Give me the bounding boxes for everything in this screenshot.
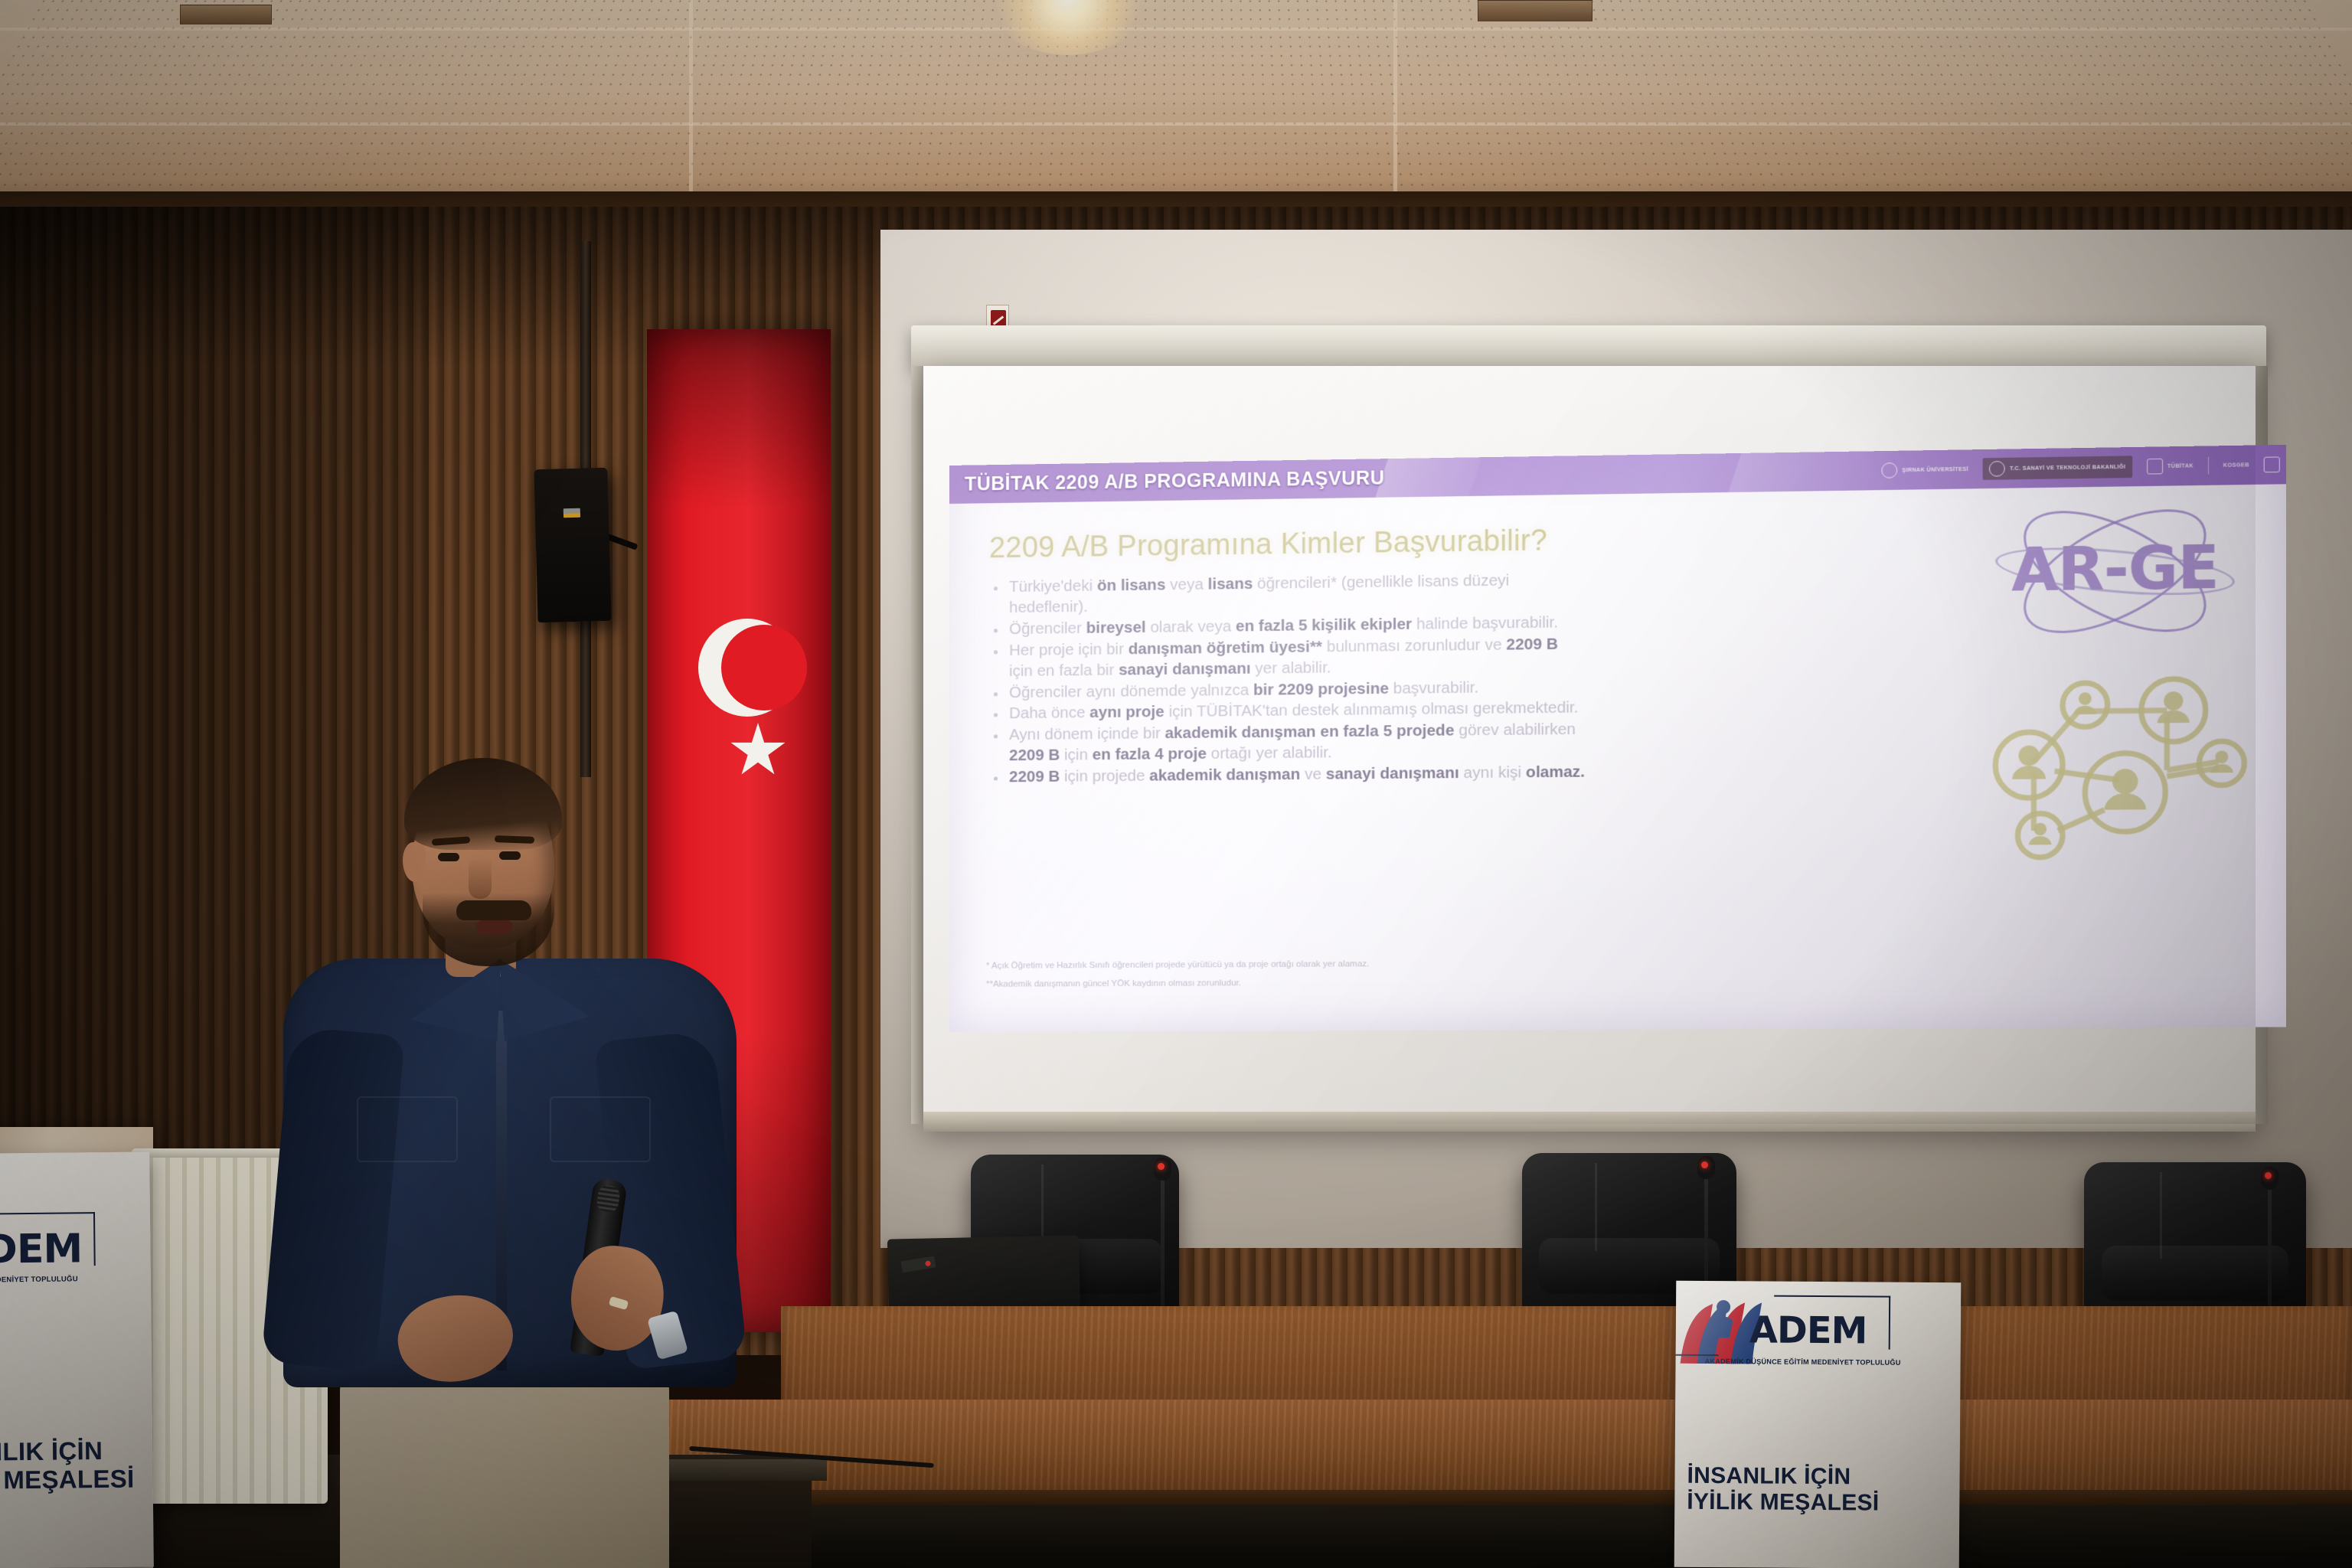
bullet-dot-icon — [994, 650, 998, 654]
bullet-dot-icon — [994, 586, 998, 590]
presenter-mouth — [476, 920, 513, 933]
sponsor-logo-kosgeb: KOSGEB — [2223, 462, 2249, 469]
arge-logo: AR-GE — [1983, 491, 2248, 651]
adem-banner-left: ADEM AKADEMİK DÜŞÜNCE EĞİTİM MEDENİYET T… — [0, 1151, 154, 1568]
bullet-text: Türkiye'deki ön lisans veya lisans öğren… — [1009, 571, 1509, 596]
presenter-eye-right — [499, 851, 521, 860]
adem-logo-text: ADEM — [1749, 1308, 1867, 1352]
bullet-text: Her proje için bir danışman öğretim üyes… — [1009, 635, 1558, 659]
presenter-moustache — [456, 900, 531, 920]
bullet-dot-icon — [994, 629, 998, 632]
conference-desk-front — [643, 1400, 2352, 1499]
conference-hall-photo: TÜBİTAK 2209 A/B PROGRAMINA BAŞVURU ŞIRN… — [0, 0, 2352, 1568]
ceiling-vent — [1478, 0, 1592, 21]
presenter-eyebrow-right — [495, 835, 534, 844]
university-seal-icon — [1881, 462, 1897, 479]
slide-bullet-5-line-1: 2209 B için en fazla 4 proje ortağı yer … — [989, 740, 1927, 765]
adem-subtitle: AKADEMİK DÜŞÜNCE EĞİTİM MEDENİYET TOPLUL… — [0, 1275, 106, 1285]
slide-bullet-3-line-0: Öğrenciler aynı dönemde yalnızca bir 220… — [989, 675, 1927, 701]
logo-divider — [2208, 457, 2209, 475]
adem-slogan: İNSANLIK İÇİN İYİLİK MEŞALESİ — [0, 1436, 153, 1495]
adem-logo: ADEM AKADEMİK DÜŞÜNCE EĞİTİM MEDENİYET T… — [0, 1197, 151, 1292]
bullet-dot-icon — [994, 735, 998, 739]
adem-banner-main: ADEM AKADEMİK DÜŞÜNCE EĞİTİM MEDENİYET T… — [1674, 1281, 1962, 1568]
sponsor-label: T.C. SANAYİ VE TEKNOLOJİ BAKANLIĞI — [2010, 464, 2125, 471]
bullet-text: için en fazla bir sanayi danışmanı yer a… — [1009, 658, 1331, 680]
gooseneck-mic-right — [2268, 1185, 2272, 1323]
bullet-dot-icon — [994, 692, 998, 696]
presenter-nose — [469, 859, 492, 899]
slide-bullet-list: Türkiye'deki ön lisans veya lisans öğren… — [989, 567, 1927, 791]
bullet-text: Öğrenciler aynı dönemde yalnızca bir 220… — [1009, 678, 1478, 701]
pa-speaker-icon — [534, 468, 611, 622]
teknopark-icon — [2264, 456, 2280, 472]
adem-slogan-line1: İNSANLIK İÇİN — [1687, 1463, 1959, 1491]
network-people-icon — [1984, 675, 2258, 873]
shirt-pocket-right — [550, 1096, 651, 1162]
bullet-dot-icon — [994, 714, 998, 717]
ceiling-seam — [0, 122, 2352, 126]
tubitak-icon — [2147, 459, 2163, 475]
screen-bottom-bar — [923, 1112, 2256, 1132]
sponsor-label: ŞIRNAK ÜNİVERSİTESİ — [1902, 466, 1968, 472]
bullet-text: Öğrenciler bireysel olarak veya en fazla… — [1009, 613, 1558, 638]
bullet-dot-icon — [994, 777, 998, 781]
presenter — [276, 750, 750, 1568]
shirt-pocket-left — [357, 1096, 458, 1162]
slide-footnote-2: **Akademik danışmanın güncel YÖK kaydını… — [986, 978, 1241, 989]
sponsor-logo-tubitak: TÜBİTAK — [2147, 458, 2194, 474]
slide-bullet-4-line-0: Daha önce aynı proje için TÜBİTAK'tan de… — [989, 697, 1927, 723]
sponsor-logo-sirnak: ŞIRNAK ÜNİVERSİTESİ — [1881, 462, 1968, 479]
bullet-text: 2209 B için en fazla 4 proje ortağı yer … — [1009, 743, 1332, 764]
slide-footnote-1: * Açık Öğretim ve Hazırlık Sınıfı öğrenc… — [986, 959, 1369, 971]
gooseneck-mic-left — [1161, 1176, 1165, 1320]
presenter-hair — [404, 758, 562, 850]
sponsor-logo-strip: ŞIRNAK ÜNİVERSİTESİ T.C. SANAYİ VE TEKNO… — [1881, 448, 2279, 487]
ceiling-seam — [0, 28, 2352, 31]
adem-subtitle: AKADEMİK DÜŞÜNCE EĞİTİM MEDENİYET TOPLUL… — [1705, 1357, 1962, 1367]
adem-logo: ADEM AKADEMİK DÜŞÜNCE EĞİTİM MEDENİYET T… — [1675, 1281, 1961, 1375]
projected-slide: TÜBİTAK 2209 A/B PROGRAMINA BAŞVURU ŞIRN… — [949, 445, 2286, 1032]
bullet-text: Aynı dönem içinde bir akademik danışman … — [1009, 720, 1576, 743]
presenter-eye-left — [438, 853, 459, 861]
bullet-text: Daha önce aynı proje için TÜBİTAK'tan de… — [1009, 699, 1579, 723]
bullet-text: hedeflenir). — [1009, 598, 1088, 616]
conference-desk-lower — [643, 1505, 2352, 1568]
bullet-text: 2209 B için projede akademik danışman ve… — [1009, 763, 1585, 786]
slide-heading: 2209 A/B Programına Kimler Başvurabilir? — [989, 524, 1547, 565]
ceiling-vent — [180, 5, 272, 24]
sponsor-logo-teknopark — [2264, 456, 2280, 472]
sponsor-label: KOSGEB — [2223, 462, 2249, 469]
adem-rule — [1674, 1354, 1719, 1356]
ministry-icon — [1989, 461, 2005, 477]
speaker-brand-badge — [563, 508, 580, 518]
presenter-trousers — [340, 1370, 669, 1568]
laptop-brand-logo-icon — [901, 1256, 936, 1272]
adem-slogan-line2: İYİLİK MEŞALESİ — [1687, 1488, 1959, 1516]
projector-screen-housing — [911, 325, 2266, 368]
adem-slogan-line2: İYİLİK MEŞALESİ — [0, 1465, 153, 1495]
slide-header-title: TÜBİTAK 2209 A/B PROGRAMINA BAŞVURU — [949, 467, 1384, 496]
presenter-ear — [403, 842, 426, 882]
sponsor-logo-ministry: T.C. SANAYİ VE TEKNOLOJİ BAKANLIĞI — [1983, 456, 2132, 480]
adem-slogan: İNSANLIK İÇİN İYİLİK MEŞALESİ — [1674, 1463, 1959, 1517]
adem-logo-text: ADEM — [0, 1226, 82, 1273]
slide-bullet-6-line-0: 2209 B için projede akademik danışman ve… — [989, 761, 1927, 786]
sponsor-label: TÜBİTAK — [2167, 463, 2194, 469]
adem-slogan-line1: İNSANLIK İÇİN — [0, 1436, 152, 1467]
